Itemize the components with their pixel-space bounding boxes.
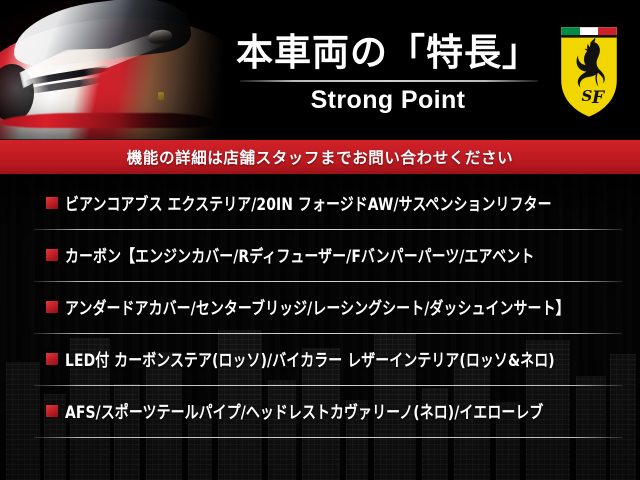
bullet-square-icon — [46, 301, 58, 313]
bullet-square-icon — [46, 197, 58, 209]
feature-list: ビアンコアブス エクステリア/20IN フォージドAW/サスペンションリフター … — [0, 182, 640, 452]
feature-text: LED付 カーボンステア(ロッソ)/バイカラー レザーインテリア(ロッソ&ネロ) — [65, 346, 555, 371]
feature-item: ビアンコアブス エクステリア/20IN フォージドAW/サスペンションリフター — [0, 182, 640, 234]
feature-text: アンダードアカバー/センターブリッジ/レーシングシート/ダッシュインサート】 — [65, 294, 570, 319]
feature-text: カーボン【エンジンカバー/Rディフューザー/Fバンパーパーツ/エアベント — [65, 242, 534, 267]
shield-letter-s: S — [582, 87, 593, 105]
contact-banner-text: 機能の詳細は店舗スタッフまでお問い合わせください — [127, 146, 513, 168]
feature-item: アンダードアカバー/センターブリッジ/レーシングシート/ダッシュインサート】 — [0, 286, 640, 338]
feature-item: AFS/スポーツテールパイプ/ヘッドレストカヴァリーノ(ネロ)/イエローレブ — [0, 390, 640, 442]
car-photo-fade — [0, 0, 232, 140]
title-divider — [240, 80, 538, 82]
shield-letter-f: F — [591, 88, 606, 108]
bullet-square-icon — [46, 249, 58, 261]
feature-item: LED付 カーボンステア(ロッソ)/バイカラー レザーインテリア(ロッソ&ネロ) — [0, 338, 640, 390]
feature-divider — [34, 229, 622, 230]
feature-divider — [34, 333, 622, 334]
feature-divider — [34, 281, 622, 282]
feature-text: ビアンコアブス エクステリア/20IN フォージドAW/サスペンションリフター — [65, 190, 552, 215]
page-title-japanese: 本車両の「特長」 — [232, 22, 544, 76]
feature-item: カーボン【エンジンカバー/Rディフューザー/Fバンパーパーツ/エアベント — [0, 234, 640, 286]
strong-point-slide: 本車両の「特長」 Strong Point S F 機能の詳細は店舗スタッフまで… — [0, 0, 640, 480]
bullet-square-icon — [46, 405, 58, 417]
feature-divider — [34, 437, 622, 438]
bullet-square-icon — [46, 353, 58, 365]
ferrari-shield-logo: S F — [556, 18, 622, 122]
feature-text: AFS/スポーツテールパイプ/ヘッドレストカヴァリーノ(ネロ)/イエローレブ — [65, 398, 543, 423]
header-banner: 本車両の「特長」 Strong Point S F — [0, 0, 640, 140]
page-title-english: Strong Point — [232, 86, 544, 115]
ferrari-car-photo — [0, 0, 232, 140]
contact-banner: 機能の詳細は店舗スタッフまでお問い合わせください — [0, 140, 640, 174]
header-title-block: 本車両の「特長」 Strong Point — [232, 0, 544, 140]
feature-divider — [34, 385, 622, 386]
